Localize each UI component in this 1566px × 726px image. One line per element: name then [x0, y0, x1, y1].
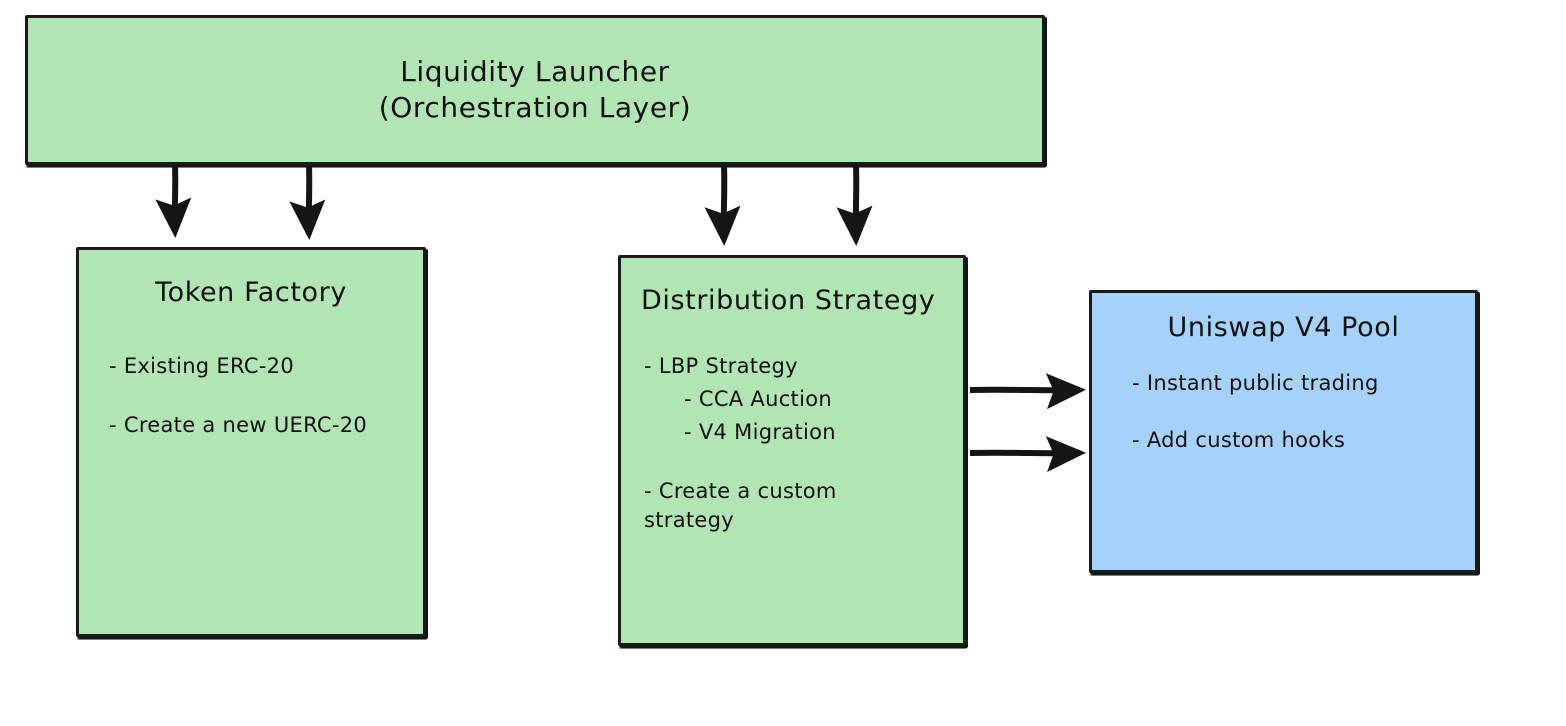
list-item: - Create a new UERC-20 [109, 411, 423, 440]
node-token-factory[interactable]: Token Factory - Existing ERC-20 - Create… [76, 247, 426, 637]
node-distribution-strategy-title: Distribution Strategy [621, 284, 963, 318]
node-uniswap-v4-pool-title: Uniswap V4 Pool [1092, 311, 1475, 345]
list-item: - Instant public trading [1132, 369, 1475, 398]
list-spacer [644, 451, 963, 477]
edge-distribution-to-uniswap-2 [970, 453, 1080, 454]
edge-orchestrator-to-token-factory-2 [309, 166, 310, 234]
list-item-sub: - V4 Migration [644, 418, 963, 447]
edge-orchestrator-to-distribution-2 [856, 166, 857, 240]
diagram-canvas: Liquidity Launcher (Orchestration Layer)… [0, 0, 1566, 726]
edge-orchestrator-to-token-factory-1 [175, 166, 176, 232]
list-item-sub: - CCA Auction [644, 385, 963, 414]
node-uniswap-v4-pool[interactable]: Uniswap V4 Pool - Instant public trading… [1089, 290, 1478, 573]
node-liquidity-launcher-title: Liquidity Launcher (Orchestration Layer) [379, 54, 692, 125]
node-distribution-strategy[interactable]: Distribution Strategy - LBP Strategy - C… [618, 255, 966, 646]
edge-distribution-to-uniswap-1 [970, 390, 1080, 391]
node-token-factory-items: - Existing ERC-20 - Create a new UERC-20 [79, 352, 423, 440]
list-item: - Create a custom strategy [644, 477, 963, 535]
node-token-factory-title: Token Factory [79, 276, 423, 310]
node-distribution-strategy-items: - LBP Strategy - CCA Auction - V4 Migrat… [621, 352, 963, 535]
node-uniswap-v4-pool-items: - Instant public trading - Add custom ho… [1092, 369, 1475, 455]
list-item: - LBP Strategy [644, 352, 963, 381]
list-item: - Add custom hooks [1132, 426, 1475, 455]
list-item: - Existing ERC-20 [109, 352, 423, 381]
node-liquidity-launcher[interactable]: Liquidity Launcher (Orchestration Layer) [25, 15, 1045, 165]
edge-orchestrator-to-distribution-1 [724, 166, 725, 240]
